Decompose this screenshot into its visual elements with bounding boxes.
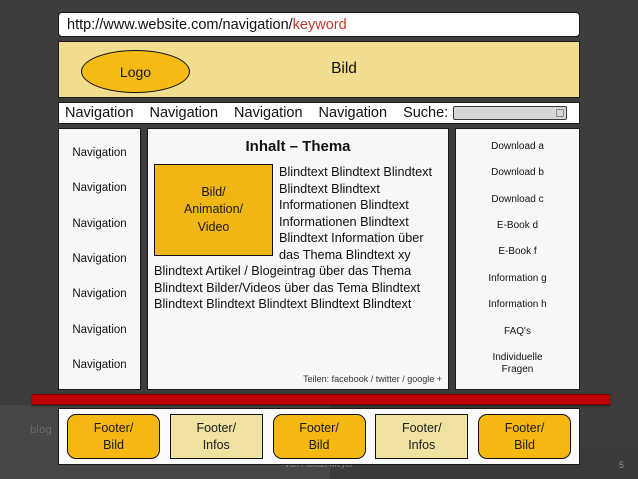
main-content: Inhalt – Thema Bild/ Animation/ Video Bl… [147,128,449,390]
page-title: Inhalt – Thema [148,138,448,155]
slide-canvas: blog http://www.website.com/navigation/k… [0,0,638,479]
right-sidebar-item-download-c[interactable]: Download c [491,194,543,207]
media-placeholder-line1: Bild/ [201,184,225,201]
search-input[interactable] [453,106,567,120]
footer-box-3-line1: Footer/ [299,420,339,437]
right-sidebar-item-ebook-d[interactable]: E-Book d [497,220,538,233]
footer-box-2-line2: Infos [203,437,230,454]
sidebar-item-navigation-5[interactable]: Navigation [72,288,126,300]
right-sidebar-item-information-g[interactable]: Information g [488,273,546,286]
nav-item-3[interactable]: Navigation [234,105,303,121]
website-mockup: http://www.website.com/navigation/keywor… [48,8,587,458]
footer-box-2[interactable]: Footer/ Infos [170,414,263,459]
footer-box-3-line2: Bild [309,437,330,454]
media-placeholder-line3: Video [198,219,230,236]
search-group: Suche: [403,105,567,121]
sidebar-item-navigation-6[interactable]: Navigation [72,324,126,336]
url-keyword: keyword [293,17,347,33]
sidebar-item-navigation-4[interactable]: Navigation [72,253,126,265]
right-sidebar-item-information-h[interactable]: Information h [488,299,546,312]
footer-box-1[interactable]: Footer/ Bild [67,414,160,459]
content-columns: Navigation Navigation Navigation Navigat… [58,128,580,390]
main-content-flow: Bild/ Animation/ Video Blindtext Blindte… [148,164,448,313]
red-accent-bar [32,394,610,405]
top-navigation-bar: Navigation Navigation Navigation Navigat… [58,102,580,124]
footer-box-4-line2: Infos [408,437,435,454]
nav-item-2[interactable]: Navigation [150,105,219,121]
right-sidebar-item-faq[interactable]: FAQ's [504,326,531,339]
right-sidebar-item-download-b[interactable]: Download b [491,167,544,180]
right-sidebar-item-individuelle-fragen[interactable]: Individuelle Fragen [492,352,542,377]
share-row[interactable]: Teilen: facebook / twitter / google + [303,374,442,384]
footer-box-4-line1: Footer/ [402,420,442,437]
body-paragraph-full: Blindtext Artikel / Blogeintrag über das… [154,263,442,313]
footer-box-5-line2: Bild [514,437,535,454]
media-placeholder[interactable]: Bild/ Animation/ Video [154,164,273,256]
right-sidebar-item-ebook-f[interactable]: E-Book f [498,246,536,259]
sidebar-item-navigation-1[interactable]: Navigation [72,147,126,159]
sidebar-item-navigation-7[interactable]: Navigation [72,359,126,371]
footer-box-4[interactable]: Footer/ Infos [375,414,468,459]
right-sidebar-item-download-a[interactable]: Download a [491,141,544,154]
footer-box-3[interactable]: Footer/ Bild [273,414,366,459]
right-sidebar: Download a Download b Download c E-Book … [455,128,580,390]
nav-item-1[interactable]: Navigation [65,105,134,121]
nav-item-4[interactable]: Navigation [319,105,388,121]
footer-box-1-line2: Bild [103,437,124,454]
slide-page-number: 5 [619,460,624,470]
left-sidebar: Navigation Navigation Navigation Navigat… [58,128,141,390]
footer-strip: Footer/ Bild Footer/ Infos Footer/ Bild … [58,408,580,465]
media-placeholder-line2: Animation/ [184,201,243,218]
footer-box-5[interactable]: Footer/ Bild [478,414,571,459]
site-logo[interactable]: Logo [81,50,190,93]
url-text: http://www.website.com/navigation/ [67,17,293,33]
address-bar[interactable]: http://www.website.com/navigation/keywor… [58,12,580,37]
footer-box-2-line1: Footer/ [196,420,236,437]
search-label: Suche: [403,105,448,121]
sidebar-item-navigation-2[interactable]: Navigation [72,182,126,194]
footer-box-5-line1: Footer/ [505,420,545,437]
sidebar-item-navigation-3[interactable]: Navigation [72,218,126,230]
footer-box-1-line1: Footer/ [94,420,134,437]
hero-banner: Bild Logo [58,41,580,98]
